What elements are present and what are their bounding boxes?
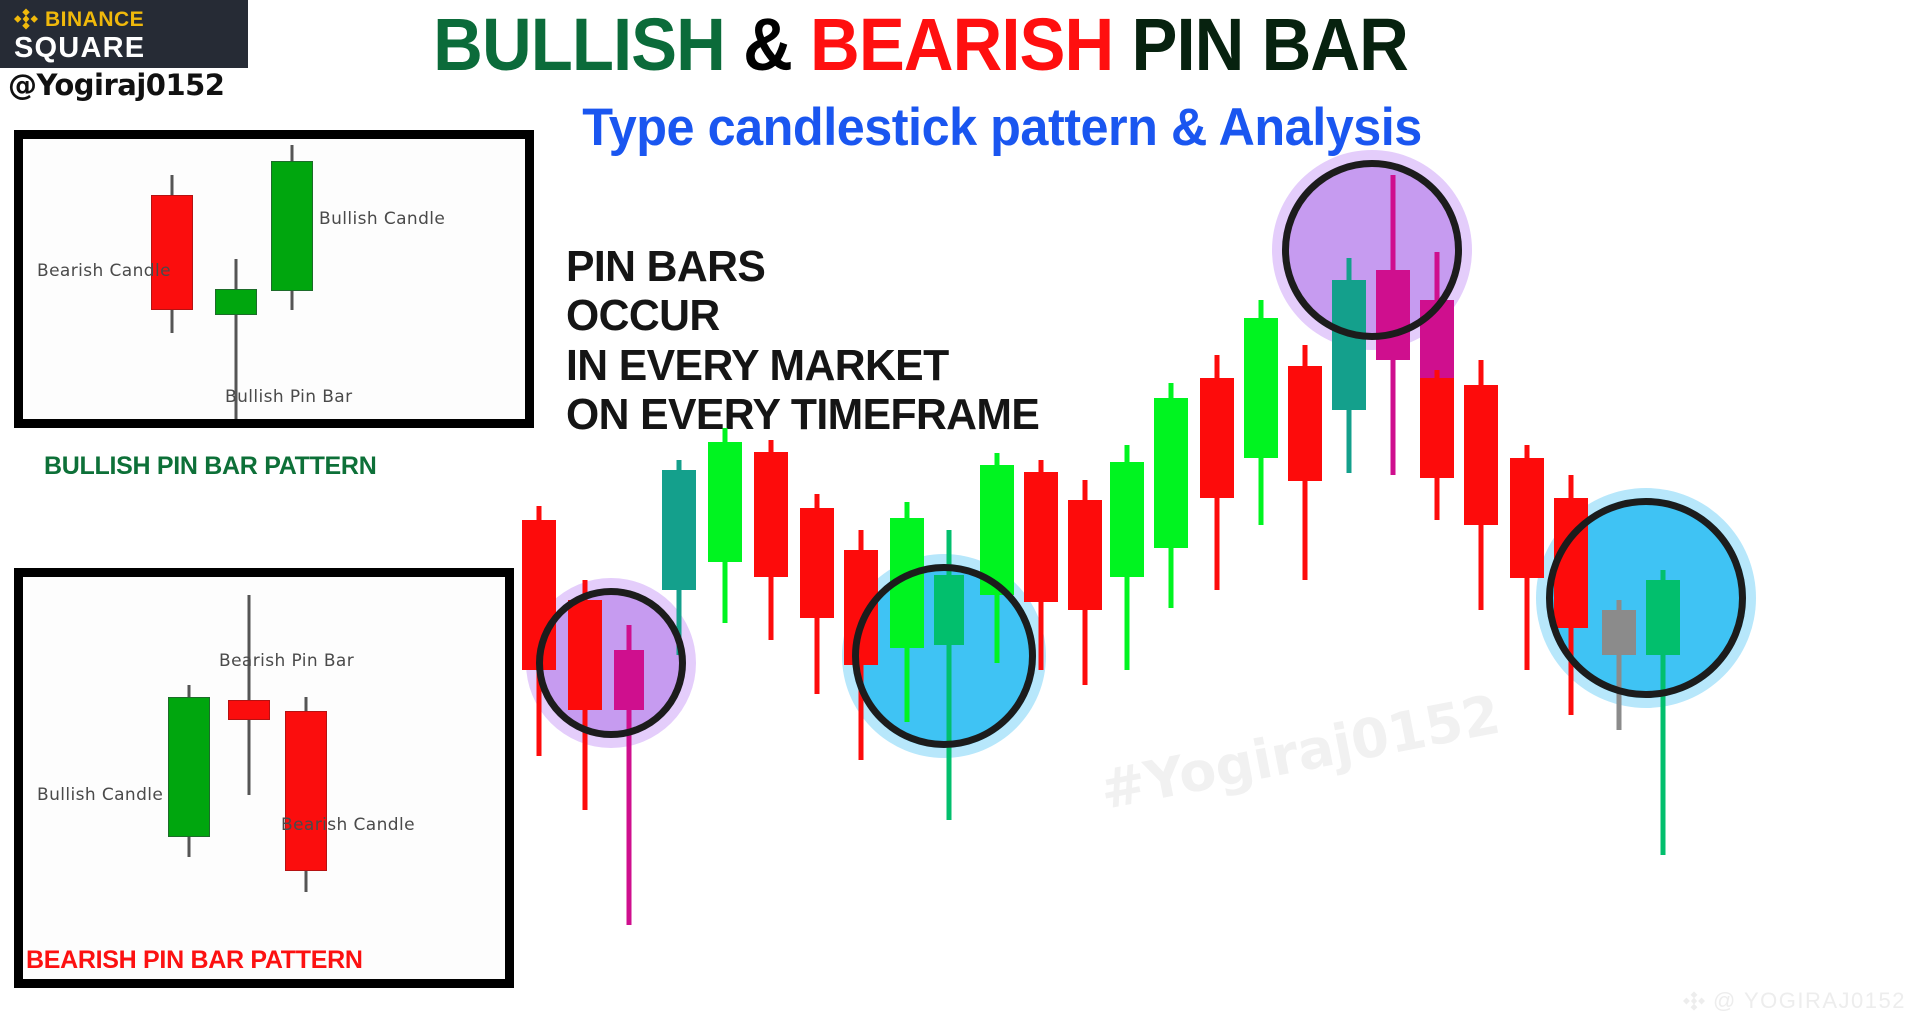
candle-body xyxy=(215,289,257,315)
candle-body xyxy=(1244,318,1278,458)
pattern-candle-bullish-candle xyxy=(168,577,210,979)
chart-candle-14 xyxy=(1154,170,1188,970)
candle-body xyxy=(662,470,696,590)
bearish-label-bullish-candle: Bullish Candle xyxy=(37,785,163,805)
binance-logo-row: BINANCE xyxy=(14,6,248,33)
chart-candle-13 xyxy=(1110,170,1144,970)
candle-wick xyxy=(248,595,251,795)
candle-body xyxy=(151,195,193,310)
chart-candle-0 xyxy=(522,170,556,970)
chart-candle-23 xyxy=(1510,170,1544,970)
page-title: BULLISH & BEARISH PIN BAR xyxy=(330,6,1511,84)
chart-candle-12 xyxy=(1068,170,1102,970)
pattern-candle-bullish-pin-bar xyxy=(215,139,257,419)
chart-candle-16 xyxy=(1244,170,1278,970)
page-subtitle: Type candlestick pattern & Analysis xyxy=(470,97,1534,158)
candle-body xyxy=(168,697,210,837)
bullish-label-bullish-candle: Bullish Candle xyxy=(319,209,445,229)
candle-body xyxy=(1420,378,1454,478)
chart-candle-10 xyxy=(980,170,1014,970)
candle-body xyxy=(1068,500,1102,610)
chart-candle-5 xyxy=(754,170,788,970)
pin-bar-highlight-1-ring xyxy=(536,588,686,738)
pin-bar-highlight-4-ring xyxy=(1546,498,1746,698)
title-pinbar: PIN BAR xyxy=(1131,3,1407,86)
candlestick-chart xyxy=(510,170,1920,970)
chart-candle-11 xyxy=(1024,170,1058,970)
candle-body xyxy=(1024,472,1058,602)
pattern-candle-bullish-candle xyxy=(271,139,313,419)
candle-body xyxy=(754,452,788,577)
candle-body xyxy=(1510,458,1544,578)
candle-body xyxy=(1110,462,1144,577)
candle-body xyxy=(285,711,327,871)
candle-body xyxy=(1154,398,1188,548)
candle-body xyxy=(1200,378,1234,498)
pattern-candle-bearish-pin-bar xyxy=(228,577,270,979)
binance-diamond-icon xyxy=(14,7,38,31)
binance-diamond-icon xyxy=(1683,990,1705,1012)
chart-candle-7 xyxy=(844,170,878,970)
title-ampersand: & xyxy=(743,3,792,86)
square-wordmark: SQUARE xyxy=(14,34,248,63)
chart-candle-15 xyxy=(1200,170,1234,970)
candle-body xyxy=(1464,385,1498,525)
bullish-label-pin-bar: Bullish Pin Bar xyxy=(225,387,353,407)
title-bullish: BULLISH xyxy=(433,3,725,86)
pattern-candle-bearish-candle xyxy=(285,577,327,979)
pin-bar-highlight-3-ring xyxy=(1282,160,1462,340)
chart-candle-2 xyxy=(614,170,644,970)
author-handle: @Yogiraj0152 xyxy=(8,68,224,102)
chart-candle-3 xyxy=(662,170,696,970)
binance-square-badge: BINANCE SQUARE xyxy=(0,0,248,68)
bearish-pattern-title: BEARISH PIN BAR PATTERN xyxy=(26,946,363,975)
candle-body xyxy=(271,161,313,291)
chart-candle-1 xyxy=(568,170,602,970)
pin-bar-highlight-2-ring xyxy=(852,564,1036,748)
bearish-candle-canvas xyxy=(23,577,505,979)
bullish-pattern-title: BULLISH PIN BAR PATTERN xyxy=(44,452,376,481)
candle-body xyxy=(708,442,742,562)
chart-candle-4 xyxy=(708,170,742,970)
binance-wordmark: BINANCE xyxy=(45,9,144,30)
bullish-pattern-diagram: Bearish Candle Bullish Candle Bullish Pi… xyxy=(14,130,534,428)
candle-body xyxy=(1288,366,1322,481)
candle-body xyxy=(228,700,270,720)
bullish-label-bearish-candle: Bearish Candle xyxy=(37,261,171,281)
corner-watermark: @ YOGIRAJ0152 xyxy=(1683,988,1906,1014)
chart-candle-22 xyxy=(1464,170,1498,970)
title-bearish: BEARISH xyxy=(810,3,1113,86)
bearish-pattern-diagram: Bearish Pin Bar Bullish Candle Bearish C… xyxy=(14,568,514,988)
bearish-label-bearish-candle: Bearish Candle xyxy=(281,815,415,835)
candle-body xyxy=(800,508,834,618)
poster-canvas: BINANCE SQUARE @Yogiraj0152 BULLISH & BE… xyxy=(0,0,1920,1024)
bearish-label-pin-bar: Bearish Pin Bar xyxy=(219,651,354,671)
chart-candle-6 xyxy=(800,170,834,970)
corner-watermark-text: @ YOGIRAJ0152 xyxy=(1713,988,1906,1014)
